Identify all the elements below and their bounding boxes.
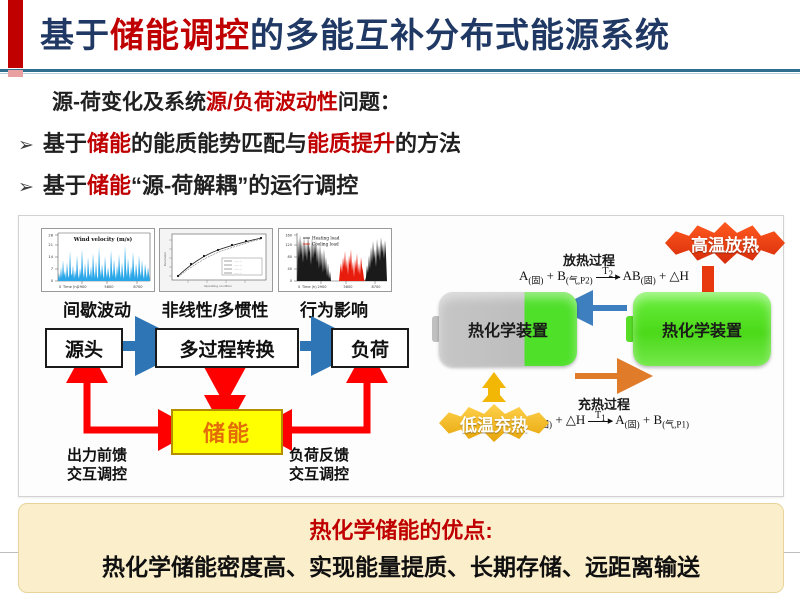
flow-box-load: 负荷: [331, 328, 409, 368]
text-run-highlight: 能质提升: [307, 131, 395, 156]
device-right-thermochemical: 热化学装置: [633, 292, 771, 366]
badge-high-temp-discharge-label: 高温放热: [691, 231, 759, 256]
equation-discharge: A(固) + B(气,P2)T2▸AB(固) + △H: [519, 268, 689, 287]
text-run: 的方法: [395, 131, 461, 156]
flow-box-conversion: 多过程转换: [155, 328, 299, 368]
equation-discharge-left: A(固) + B(气,P2): [519, 268, 593, 283]
badge-low-temp-charge-label: 低温充热: [460, 411, 528, 436]
flow-label-feedback-line1: 负荷反馈: [289, 447, 349, 464]
title-divider-secondary: [0, 73, 800, 74]
text-run-highlight: 源/负荷波动性: [206, 91, 338, 114]
flow-label-feedforward-line1: 出力前馈: [67, 447, 127, 464]
page-title: 基于储能调控的多能互补分布式能源系统: [40, 10, 780, 62]
bullet-text: 基于储能的能质能势匹配与能质提升的方法: [43, 131, 461, 156]
bullet-marker-icon: ➢: [18, 135, 43, 156]
text-run: 源-荷变化及系统: [52, 91, 206, 114]
text-run-highlight: 储能调控: [110, 17, 250, 55]
text-run: 的多能互补分布式能源系统: [250, 17, 670, 55]
flow-label-feedback-line2: 交互调控: [289, 466, 349, 483]
flow-box-storage: 储能: [171, 409, 283, 455]
thermochemical-scheme: 热化学装置 热化学装置 放热过程 充热过程 A(固) + B(气,P2)T2▸A…: [415, 216, 781, 494]
bullet-lead-line: 源-荷变化及系统源/负荷波动性问题：: [52, 86, 401, 116]
bullet-item-1: ➢基于储能的能质能势匹配与能质提升的方法: [18, 126, 461, 158]
flow-label-feedforward: 出力前馈 交互调控: [67, 446, 127, 484]
equation-discharge-right: AB(固) + △H: [623, 268, 689, 283]
text-run-highlight: 储能: [87, 131, 131, 156]
bullet-item-2: ➢基于储能“源-荷解耦”的运行调控: [18, 168, 358, 200]
bullet-text: 基于储能“源-荷解耦”的运行调控: [43, 173, 358, 198]
title-divider: [0, 69, 800, 72]
text-run: 基于: [40, 17, 110, 55]
equation-discharge-arrow: T2▸: [593, 277, 623, 278]
title-accent-tab: [8, 70, 23, 77]
bullet-marker-icon: ➢: [18, 177, 43, 198]
text-run: 的能质能势匹配与: [131, 131, 307, 156]
advantages-box: 热化学储能的优点: 热化学储能密度高、实现能量提质、长期存储、远距离输送: [18, 503, 784, 593]
advantages-heading: 热化学储能的优点:: [19, 513, 783, 545]
text-run-highlight: 储能: [87, 173, 131, 198]
text-run: “源-荷解耦”的运行调控: [131, 173, 358, 198]
flow-label-feedback: 负荷反馈 交互调控: [289, 446, 349, 484]
equation-charge-right: A(固) + B(气,P1): [615, 412, 689, 427]
badge-high-temp-discharge: 高温放热: [665, 222, 785, 264]
text-run: 基于: [43, 131, 87, 156]
bullet-section: 源-荷变化及系统源/负荷波动性问题： ➢基于储能的能质能势匹配与能质提升的方法 …: [0, 80, 800, 205]
flow-label-feedforward-line2: 交互调控: [67, 466, 127, 483]
slide-title-bar: 基于储能调控的多能互补分布式能源系统: [0, 0, 800, 72]
text-run: 问题：: [338, 91, 401, 114]
text-run: 基于: [43, 173, 87, 198]
title-accent-bar: [8, 0, 23, 68]
device-left-thermochemical: 热化学装置: [439, 292, 577, 366]
flow-box-source: 源头: [45, 328, 123, 368]
bottom-edge-left: [0, 552, 18, 553]
diagram-panel: 0 7 14 21 28 0 Time (h) 2900 5800 8700 W…: [18, 215, 784, 497]
badge-low-temp-charge: 低温充热: [439, 404, 549, 442]
equation-charge-arrow: T1▸: [585, 421, 615, 422]
bottom-edge-right: [782, 552, 800, 553]
advantages-body: 热化学储能密度高、实现能量提质、长期存储、远距离输送: [19, 548, 783, 582]
